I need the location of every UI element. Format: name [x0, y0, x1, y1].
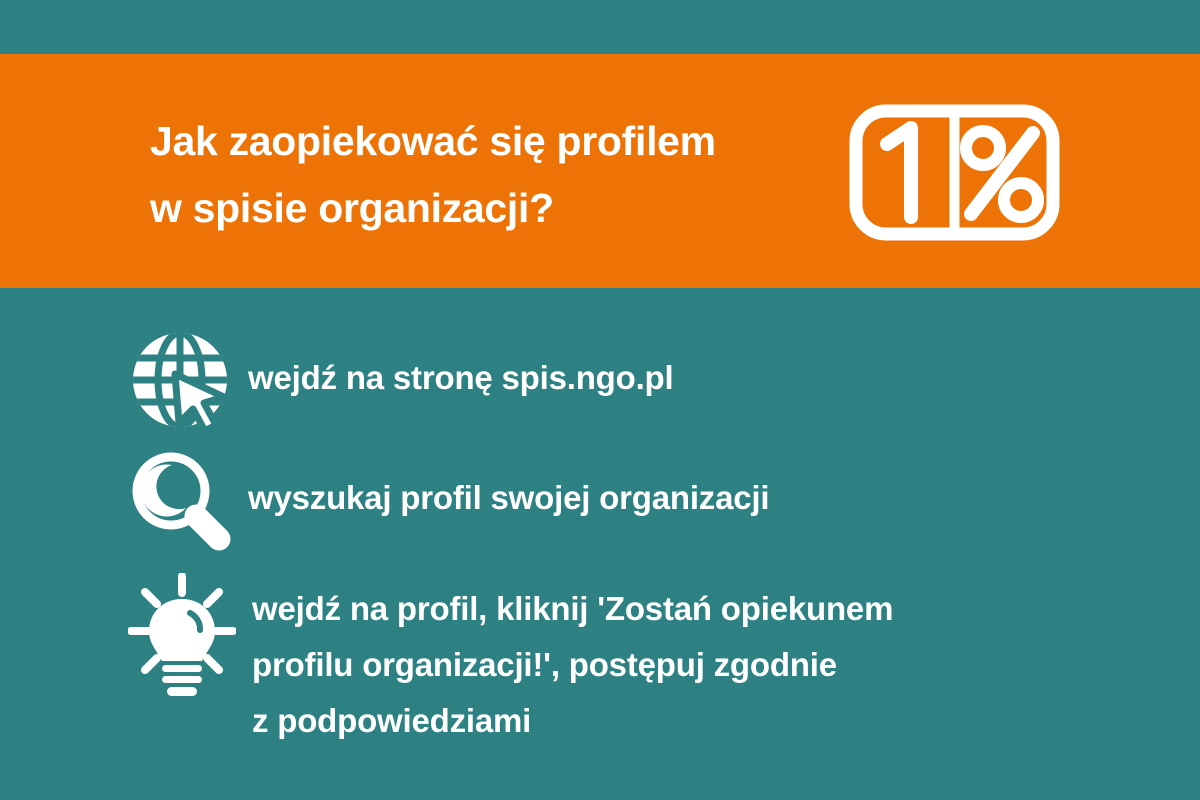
- poster-canvas: Jak zaopiekować się profilem w spisie or…: [0, 0, 1200, 800]
- steps-list: wejdź na stronę spis.ngo.pl wyszukaj pro…: [0, 288, 1200, 800]
- list-item: wejdź na profil, kliknij 'Zostań opiekun…: [128, 573, 893, 749]
- globe-cursor-icon: [128, 328, 232, 432]
- list-item-label: wejdź na profil, kliknij 'Zostań opiekun…: [252, 573, 893, 749]
- magnifier-icon: [128, 448, 232, 552]
- one-percent-icon: [849, 104, 1060, 241]
- list-item-label: wejdź na stronę spis.ngo.pl: [248, 328, 674, 406]
- list-item-label: wyszukaj profil swojej organizacji: [248, 448, 769, 526]
- list-item: wyszukaj profil swojej organizacji: [128, 448, 769, 552]
- list-item: wejdź na stronę spis.ngo.pl: [128, 328, 674, 432]
- lightbulb-icon: [128, 573, 236, 699]
- page-title: Jak zaopiekować się profilem w spisie or…: [150, 108, 830, 242]
